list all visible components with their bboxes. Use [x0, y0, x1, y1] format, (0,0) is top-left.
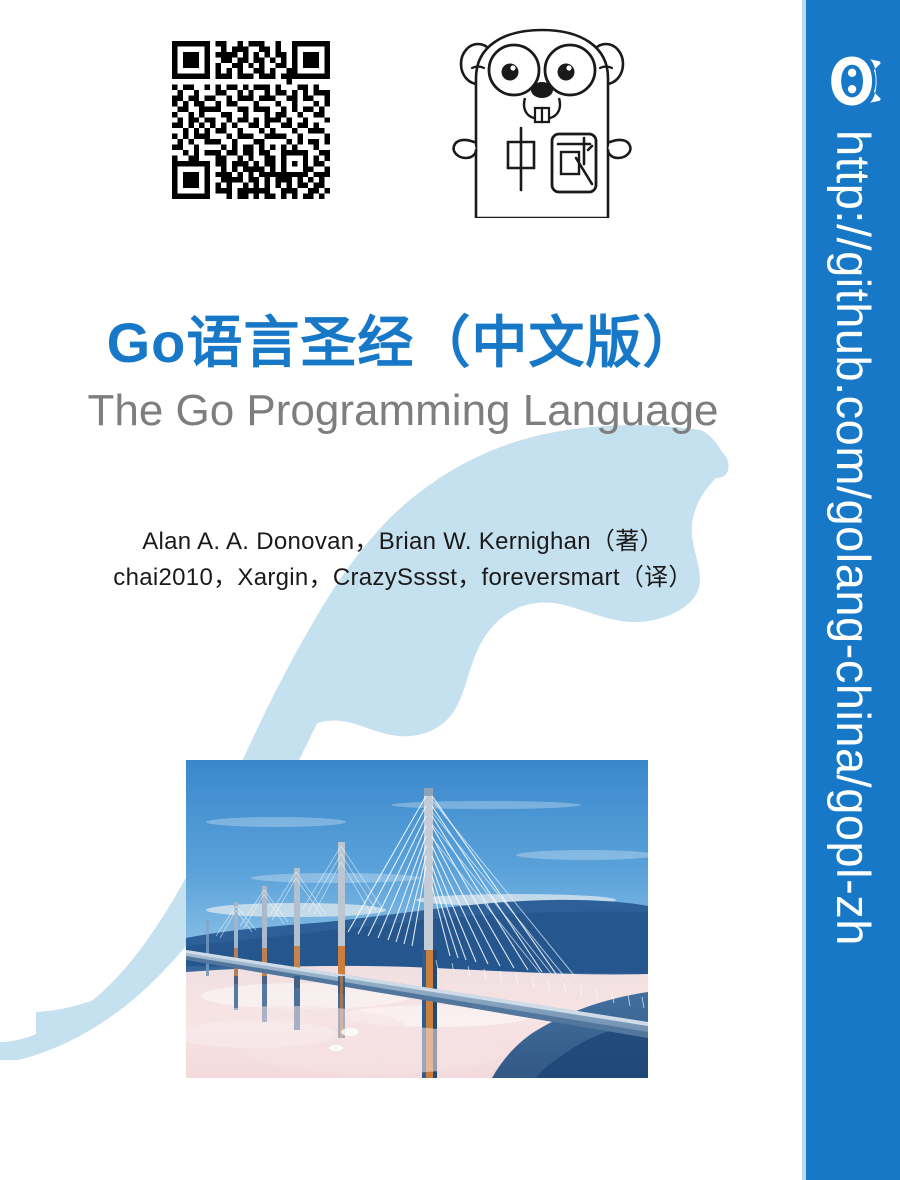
book-title-english: The Go Programming Language: [0, 386, 806, 437]
book-cover: Go语言圣经（中文版） The Go Programming Language …: [0, 0, 900, 1180]
authors-block: Alan A. A. Donovan，Brian W. Kernighan（著）…: [0, 524, 806, 596]
translators-line: chai2010，Xargin，CrazySssst，foreversmart（…: [0, 560, 806, 596]
github-url-text[interactable]: http://github.com/golang-china/gopl-zh: [806, 128, 900, 1168]
authors-line: Alan A. A. Donovan，Brian W. Kernighan（著）: [0, 524, 806, 560]
spine-url-wrap: http://github.com/golang-china/gopl-zh: [806, 0, 900, 1180]
qr-code[interactable]: [172, 28, 330, 212]
book-title-chinese: Go语言圣经（中文版）: [0, 312, 806, 374]
go-gopher-mascot-icon: [452, 22, 632, 218]
spine-bar: http://github.com/golang-china/gopl-zh: [806, 0, 900, 1180]
millau-viaduct-photo: [186, 760, 648, 1078]
